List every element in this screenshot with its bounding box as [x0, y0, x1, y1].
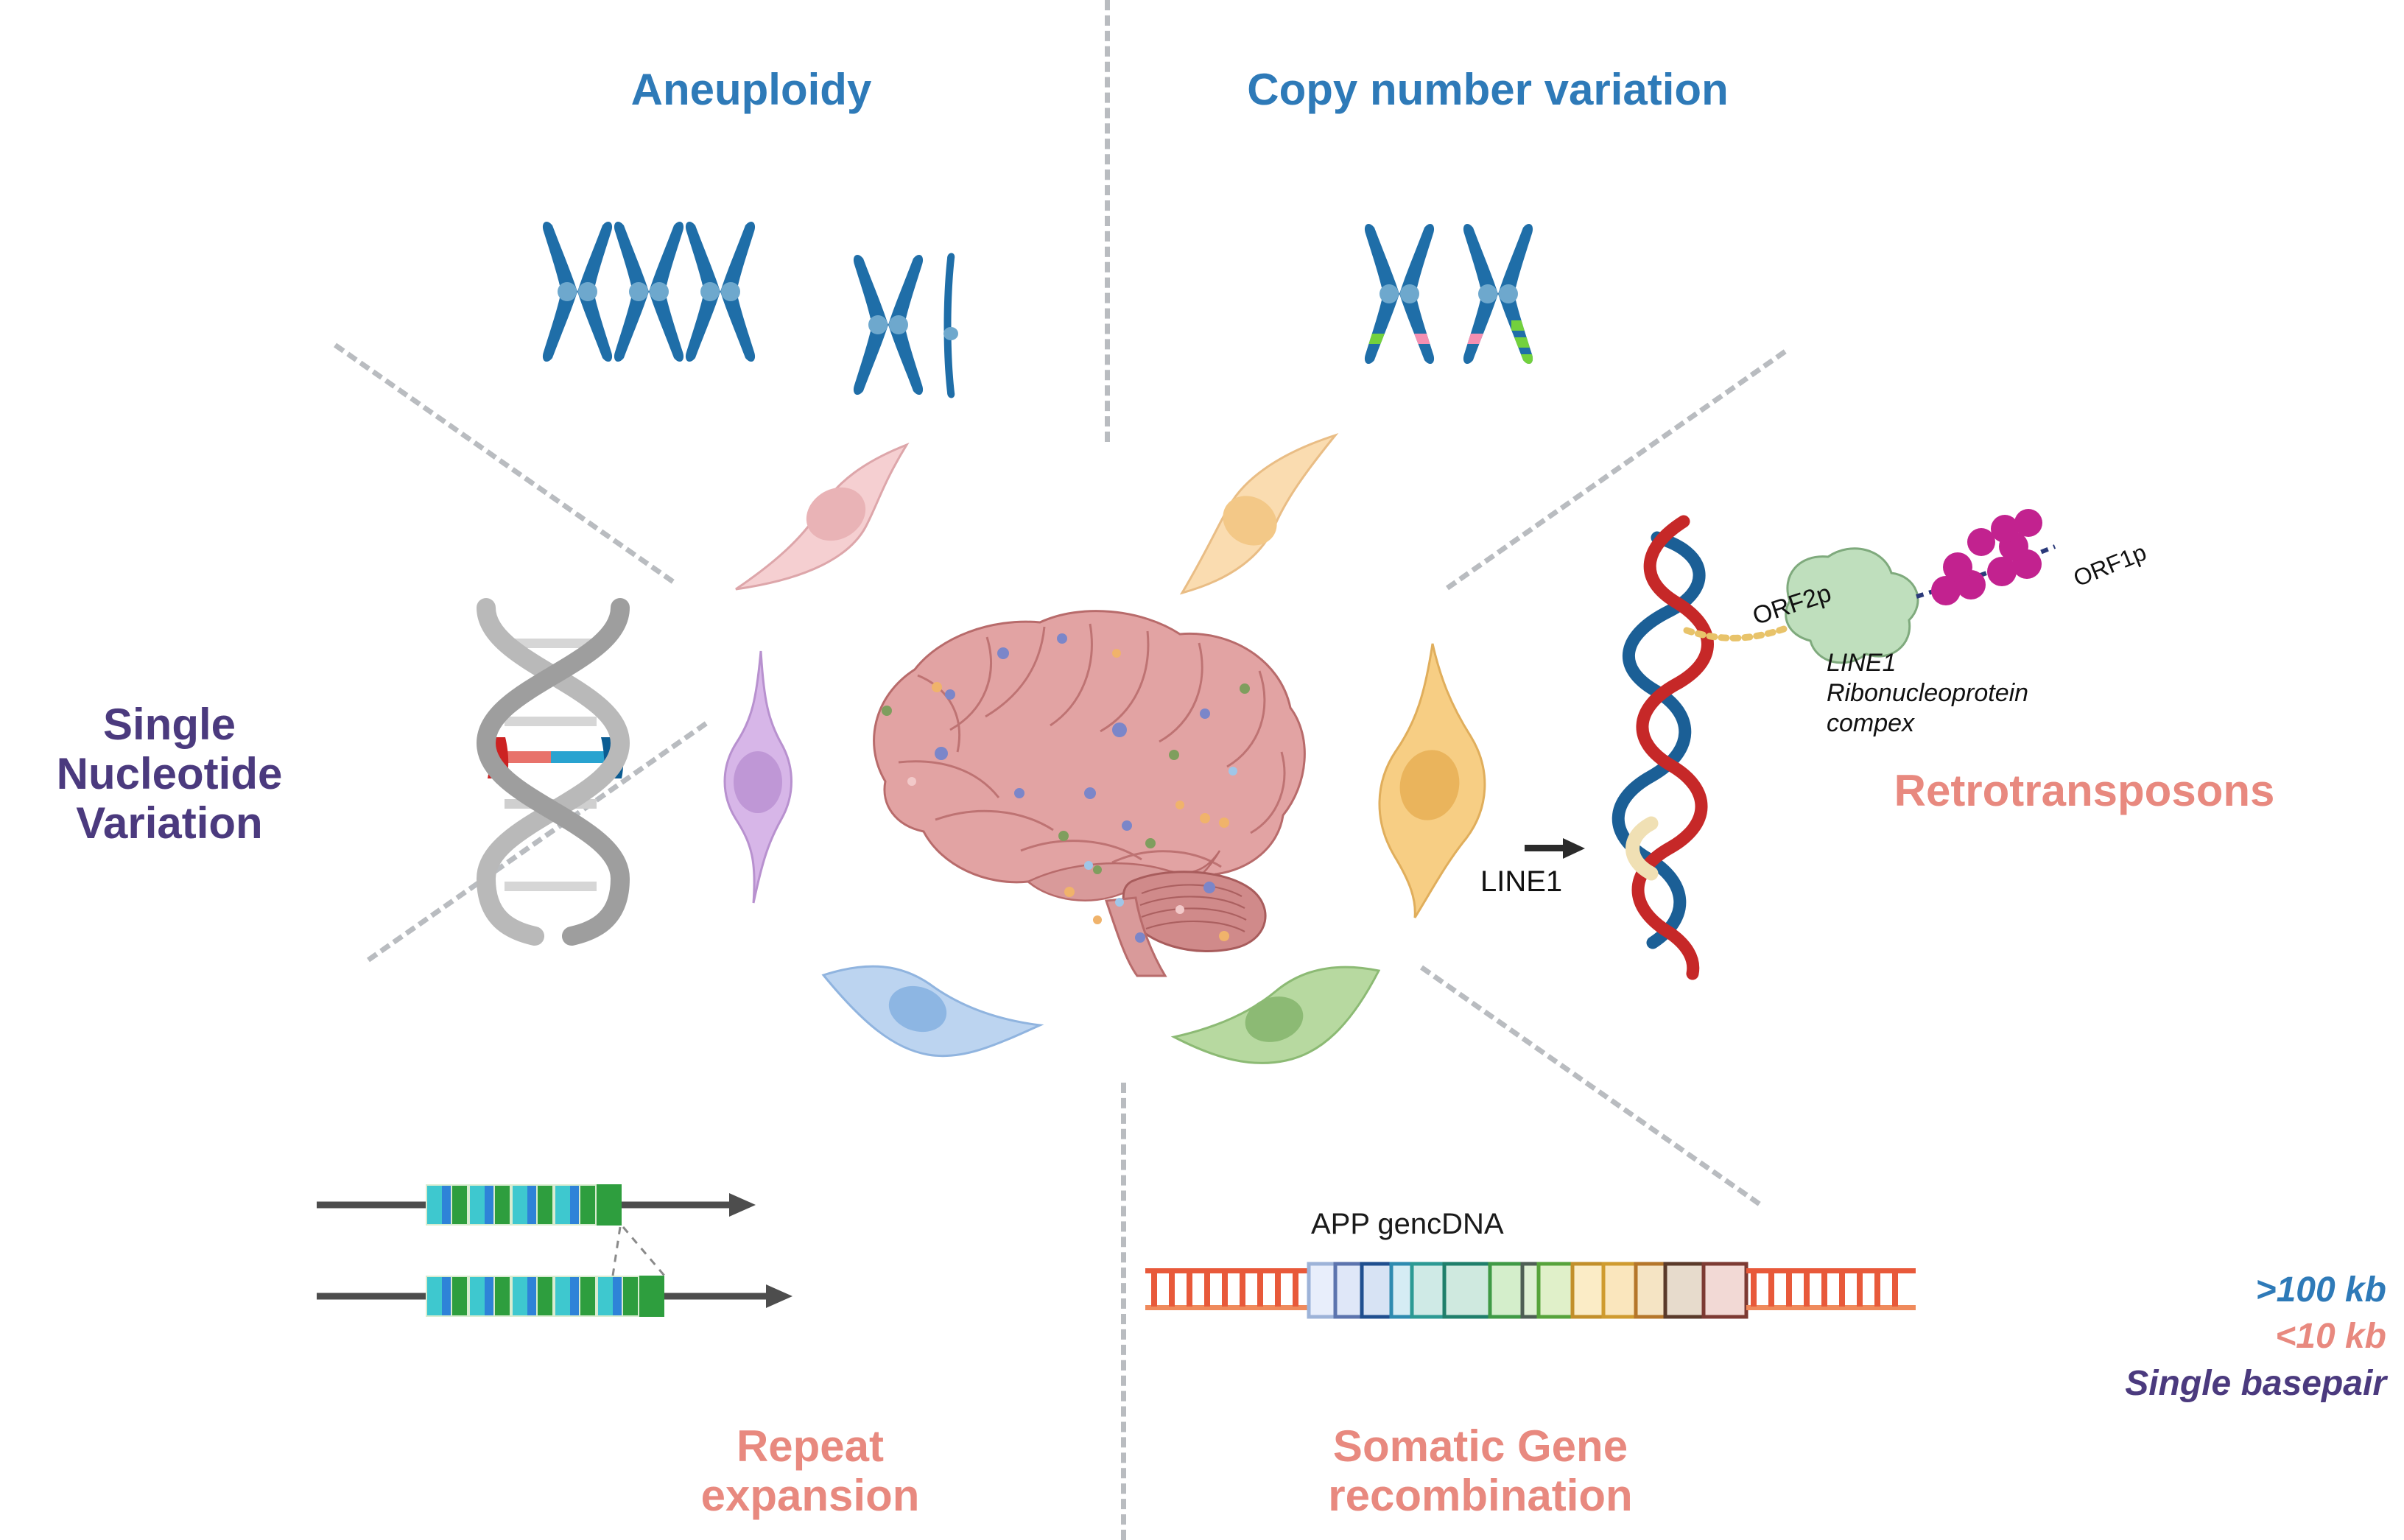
- line1-pointer-arrow: [1525, 838, 1585, 859]
- chromosome-1: [543, 222, 612, 362]
- cnv-band-pink-left: [1413, 334, 1442, 344]
- cell-green: [1171, 950, 1385, 1090]
- copy-number-chromosomes-icon: [1354, 205, 1575, 426]
- line1-rnp-complex-label: LINE1 Ribonucleoprotein compex: [1827, 648, 2028, 738]
- divider-lower-right: [1420, 966, 1761, 1206]
- app-gencdna-label: APP gencDNA: [1311, 1208, 1504, 1241]
- app-gencdna-icon: [1145, 1259, 1757, 1333]
- rnp-label-line-1: LINE1: [1827, 648, 2028, 678]
- legend-item-single-basepair: Single basepair: [2003, 1360, 2386, 1407]
- legend-item-over-100kb: >100 kb: [2003, 1267, 2386, 1313]
- cnv-chromosome-left: [1358, 224, 1442, 364]
- size-scale-legend: >100 kb <10 kb Single basepair: [2003, 1267, 2386, 1407]
- section-title-snv: Single Nucleotide Variation: [29, 700, 309, 848]
- chromosome-single-chromatid: [943, 253, 958, 398]
- rnp-label-line-3: compex: [1827, 709, 2028, 739]
- line1-retrotransposition-icon: [1569, 508, 2320, 987]
- legend-item-under-10kb: <10 kb: [2003, 1313, 2386, 1360]
- snv-title-line-1: Single: [29, 700, 309, 749]
- sgr-title-line-2: recombination: [1282, 1471, 1679, 1520]
- repeat-track-normal: [317, 1184, 756, 1226]
- section-title-repeat-expansion: Repeat expansion: [663, 1421, 957, 1520]
- repeat-title-line-2: expansion: [663, 1471, 957, 1520]
- cell-nucleus: [734, 751, 782, 813]
- chromosome-2: [614, 222, 683, 362]
- snv-title-line-2: Nucleotide: [29, 749, 309, 798]
- dna-ladder-right: [1746, 1259, 1923, 1333]
- section-title-somatic-recombination: Somatic Gene recombination: [1282, 1421, 1679, 1520]
- repeat-track-expanded: [317, 1276, 792, 1317]
- figure-canvas: Aneuploidy Copy number variation Single …: [0, 0, 2404, 1540]
- cnv-chromosome-right: [1457, 224, 1541, 365]
- aneuploidy-chromosomes-icon: [530, 203, 987, 423]
- chromosome-3: [686, 222, 755, 362]
- sgr-title-line-1: Somatic Gene: [1282, 1421, 1679, 1471]
- cell-yellow: [1359, 641, 1499, 921]
- expansion-guides: [613, 1227, 664, 1276]
- divider-vertical-bottom: [1121, 1083, 1126, 1540]
- cnv-bands-green-amplified: [1511, 320, 1541, 365]
- rnp-label-line-2: Ribonucleoprotein: [1827, 678, 2028, 709]
- chromosome-monosomy-pair: [854, 255, 923, 395]
- repeat-expansion-icon: [317, 1156, 1031, 1348]
- cell-pink: [725, 435, 917, 604]
- cnv-band-pink-right: [1457, 334, 1486, 344]
- brain-illustration: [847, 608, 1318, 976]
- orf1p-trimer-2: [1987, 532, 2042, 586]
- dna-ladder-left: [1145, 1268, 1309, 1310]
- divider-vertical-top: [1105, 0, 1110, 442]
- section-title-copy-number: Copy number variation: [1193, 65, 1782, 114]
- gencdna-exon-boxes: [1309, 1264, 1746, 1317]
- cell-blue: [818, 943, 1046, 1083]
- dna-strand-blue: [1618, 538, 1699, 943]
- dna-double-helix-icon: [464, 593, 648, 946]
- cell-orange: [1167, 431, 1344, 600]
- orf1p-trimer-1: [1931, 552, 1986, 605]
- section-title-aneuploidy: Aneuploidy: [545, 65, 957, 114]
- line1-arrow-label: LINE1: [1480, 865, 1562, 899]
- snv-title-line-3: Variation: [29, 798, 309, 848]
- repeat-title-line-1: Repeat: [663, 1421, 957, 1471]
- cell-purple: [711, 648, 806, 906]
- cnv-band-green-left: [1358, 334, 1388, 344]
